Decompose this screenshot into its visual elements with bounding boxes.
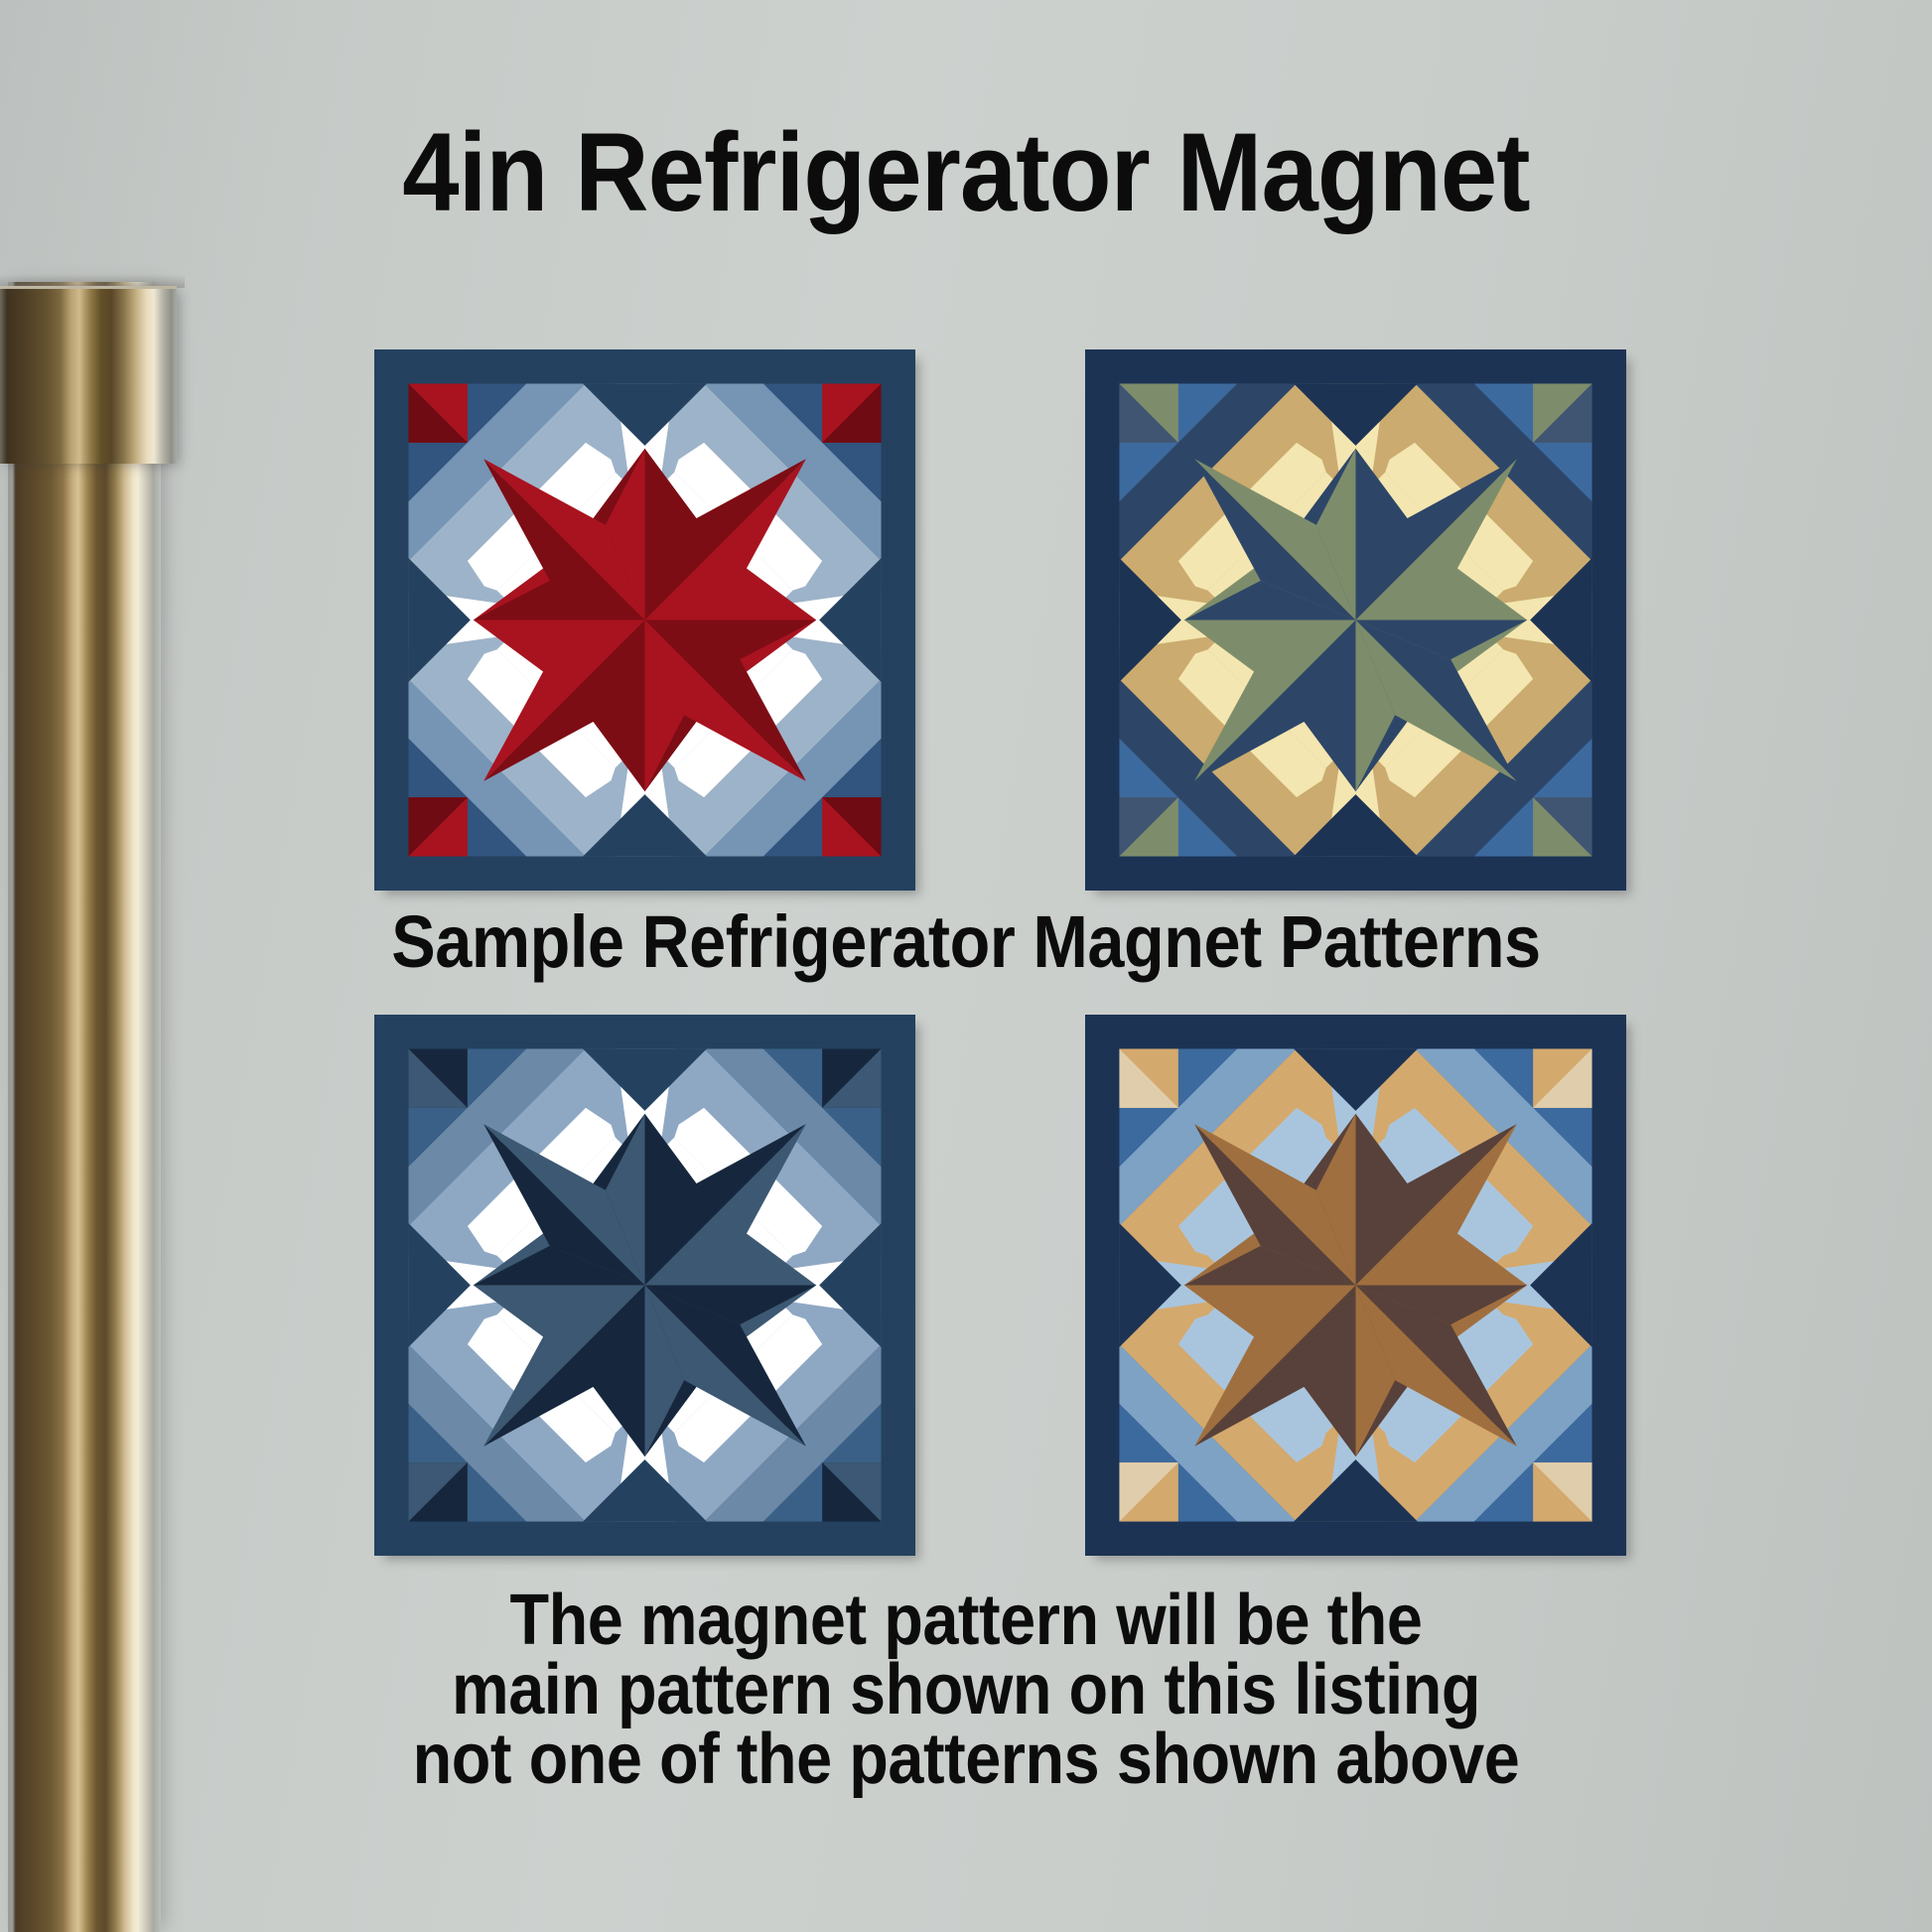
- quilt-pattern-tile-pattern-brown-tan-blue[interactable]: [1085, 1015, 1626, 1556]
- sample-patterns-caption: Sample Refrigerator Magnet Patterns: [96, 905, 1835, 979]
- footer-note: The magnet pattern will be the main patt…: [0, 1586, 1932, 1794]
- quilt-pattern-svg: [1085, 1015, 1626, 1556]
- quilt-pattern-svg: [1085, 349, 1626, 891]
- footer-line-1: The magnet pattern will be the: [96, 1586, 1835, 1655]
- footer-line-3: not one of the patterns shown above: [96, 1725, 1835, 1794]
- quilt-pattern-tile-pattern-all-blue[interactable]: [374, 1015, 915, 1556]
- quilt-pattern-svg: [374, 349, 915, 891]
- quilt-pattern-tile-pattern-cream-sage-blue[interactable]: [1085, 349, 1626, 891]
- poster-canvas: 4in Refrigerator Magnet Sample Refrigera…: [0, 0, 1932, 1932]
- quilt-pattern-tile-pattern-red-white-blue[interactable]: [374, 349, 915, 891]
- footer-line-2: main pattern shown on this listing: [96, 1655, 1835, 1725]
- page-title: 4in Refrigerator Magnet: [77, 117, 1855, 228]
- quilt-pattern-svg: [374, 1015, 915, 1556]
- brass-pole-cap: [0, 286, 177, 464]
